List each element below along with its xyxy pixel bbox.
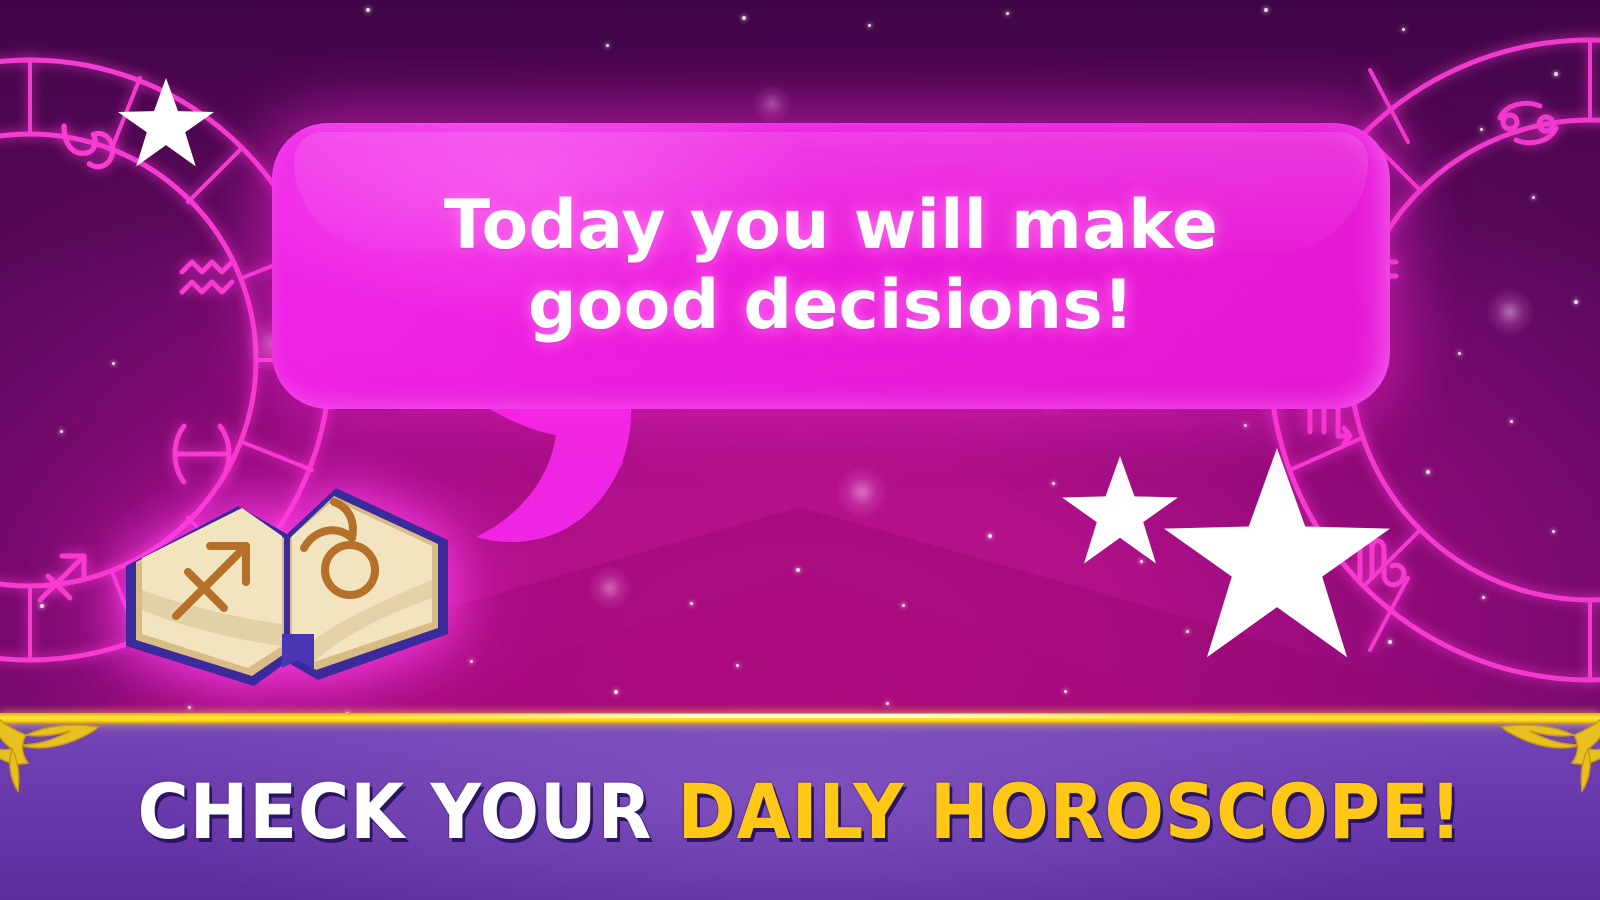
star-speck [886,702,889,705]
star-speck [1006,12,1009,15]
star-speck [40,604,44,608]
star-speck [470,660,473,663]
speech-bubble-line-1: Today you will make [444,186,1218,266]
star-speck [690,602,693,605]
star-speck [1244,424,1247,427]
star-speck [1554,72,1558,76]
promo-banner-stage: Today you will make good decisions! [0,0,1600,900]
star-speck [1532,196,1535,199]
speech-bubble-text: Today you will make good decisions! [272,123,1390,409]
banner-gold-divider [0,713,1600,724]
star-speck [736,664,739,667]
open-book-icon [118,448,456,696]
star-speck [1510,420,1513,423]
star-speck [1458,352,1461,355]
star-speck [868,24,871,27]
star-speck [614,690,618,694]
banner-headline: CHECK YOUR DAILY HOROSCOPE! [64,767,1536,856]
star-speck [1052,482,1055,485]
star-speck [1574,300,1578,304]
star-speck [1552,530,1555,533]
star-speck [188,706,191,709]
glow-dot [752,84,792,124]
glow-dot [836,466,888,518]
speech-bubble: Today you will make good decisions! [272,123,1390,409]
star-speck [988,534,992,538]
banner-headline-gold: DAILY HOROSCOPE! [678,767,1463,856]
star-speck [60,430,63,433]
banner-headline-space [652,767,677,856]
speech-bubble-line-2: good decisions! [528,266,1134,346]
star-speck [796,568,800,572]
star-speck [606,44,609,47]
glow-dot [588,566,632,610]
banner-headline-white: CHECK YOUR [138,767,653,856]
banner-gold-divider-highlight [352,714,1248,718]
glow-dot [1486,288,1534,336]
star-speck [1064,690,1067,693]
star-speck [366,8,370,12]
bottom-banner[interactable]: CHECK YOUR DAILY HOROSCOPE! [0,723,1600,900]
star-speck [1482,596,1485,599]
star-speck [742,16,746,20]
star-speck [1402,28,1405,31]
star-speck [1426,470,1430,474]
star-speck [1388,640,1392,644]
star-speck [1480,128,1483,131]
star-speck [1264,8,1268,12]
star-speck [902,604,905,607]
star-speck [1140,560,1143,563]
star-speck [112,362,115,365]
star-speck [1186,630,1189,633]
